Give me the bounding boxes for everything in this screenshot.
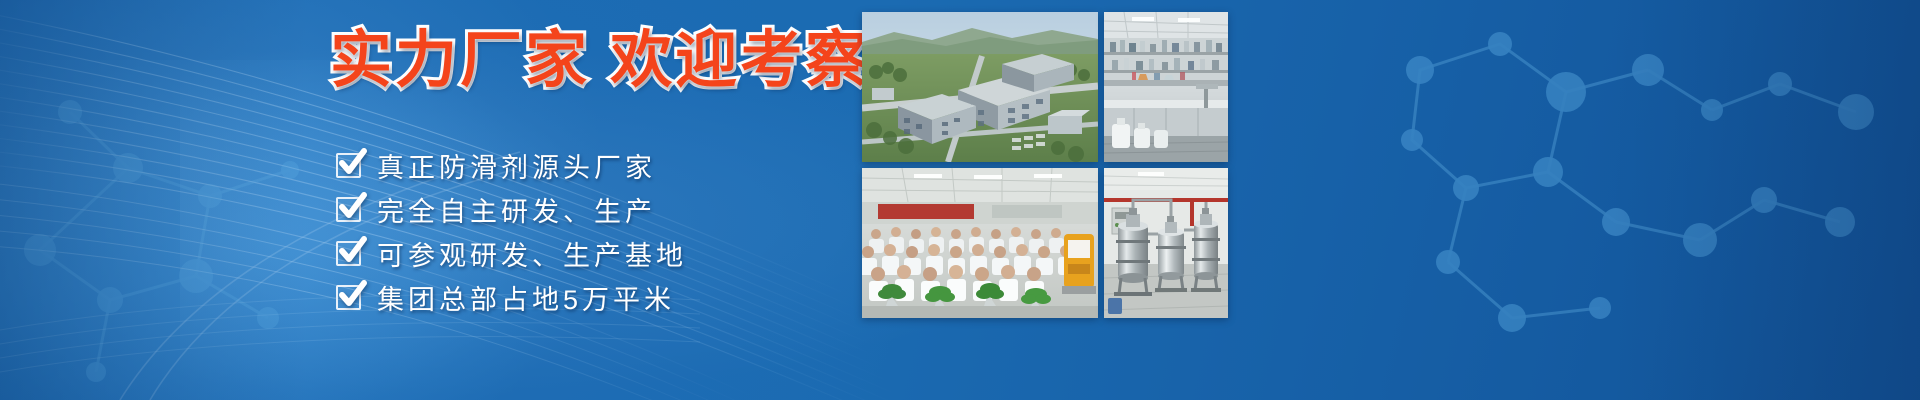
list-item: 完全自主研发、生产: [336, 188, 856, 231]
checkbox-check-icon: [336, 241, 361, 266]
list-item: 集团总部占地5万平米: [336, 276, 856, 319]
aerial-factory-campus-photo: [862, 12, 1098, 162]
checkbox-check-icon: [336, 153, 361, 178]
list-item-label: 真正防滑剂源头厂家: [377, 146, 656, 185]
list-item-label: 完全自主研发、生产: [377, 190, 656, 229]
staff-group-assembly-photo: [862, 168, 1098, 318]
photo-gallery: [862, 12, 1228, 318]
checkbox-check-icon: [336, 285, 361, 310]
list-item: 真正防滑剂源头厂家: [336, 144, 856, 187]
list-item-label: 集团总部占地5万平米: [377, 278, 675, 317]
list-item-label: 可参观研发、生产基地: [377, 234, 687, 273]
reactor-equipment-workshop-photo: [1104, 168, 1228, 318]
feature-list: 真正防滑剂源头厂家 完全自主研发、生产 可参观研发、生产基地 集团总部占地5万平…: [336, 144, 856, 320]
laboratory-interior-photo: [1104, 12, 1228, 162]
checkbox-check-icon: [336, 197, 361, 222]
list-item: 可参观研发、生产基地: [336, 232, 856, 275]
banner-content: 实力厂家 欢迎考察 真正防滑剂源头厂家 完全自主研发、生产 可参观研发、生产基地: [0, 0, 860, 400]
page-title: 实力厂家 欢迎考察: [330, 30, 830, 92]
promo-banner: 实力厂家 欢迎考察 真正防滑剂源头厂家 完全自主研发、生产 可参观研发、生产基地: [0, 0, 1920, 400]
